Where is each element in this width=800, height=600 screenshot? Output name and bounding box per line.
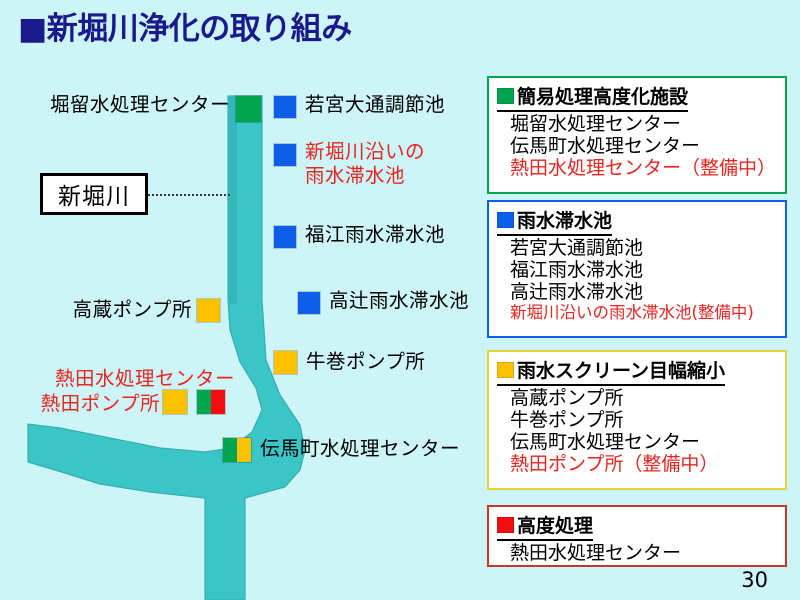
legend-item: 熱田水処理センター xyxy=(497,542,779,564)
slide-canvas: ■新堀川浄化の取り組み 新堀川 堀留水処理センター 若宮大通調節池 新堀川沿いの… xyxy=(0,0,800,600)
legend-box-usui-screen[interactable]: 雨水スクリーン目幅縮小 高蔵ポンプ所 牛巻ポンプ所 伝馬町水処理センター 熱田ポ… xyxy=(487,350,787,490)
marker-denmacho xyxy=(222,437,252,463)
diagram-label-shinborigawa-line2: 雨水滞水池 xyxy=(305,164,425,188)
swatch-green xyxy=(197,390,211,414)
diagram-label-shinborigawa-line1: 新堀川沿いの xyxy=(305,140,425,164)
legend-item: 若宮大通調節池 xyxy=(497,237,779,259)
swatch-blue xyxy=(274,226,296,248)
legend-heading-usui-screen: 雨水スクリーン目幅縮小 xyxy=(497,356,725,386)
marker-shinborigawa xyxy=(273,143,297,167)
legend-item: 新堀川沿いの雨水滞水池(整備中) xyxy=(497,303,779,322)
diagram-label-wakamiya: 若宮大通調節池 xyxy=(305,93,445,117)
river-name-label: 新堀川 xyxy=(58,177,130,211)
legend-box-usui-taisuichi[interactable]: 雨水滞水池 若宮大通調節池 福江雨水滞水池 高辻雨水滞水池 新堀川沿いの雨水滞水… xyxy=(487,200,787,338)
diagram-label-takatsuji: 高辻雨水滞水池 xyxy=(329,289,469,313)
marker-ushimaki xyxy=(273,350,298,375)
swatch-green xyxy=(223,438,237,462)
diagram-label-denmacho: 伝馬町水処理センター xyxy=(260,437,460,461)
diagram-label-shinborigawa: 新堀川沿いの 雨水滞水池 xyxy=(305,140,425,188)
swatch-green-icon xyxy=(497,88,514,104)
page-number: 30 xyxy=(741,568,768,592)
marker-atsuta-pump xyxy=(162,389,188,415)
diagram-label-ushimaki: 牛巻ポンプ所 xyxy=(306,350,425,374)
swatch-blue xyxy=(274,144,296,166)
swatch-blue xyxy=(298,292,320,314)
legend-item: 熱田ポンプ所（整備中） xyxy=(497,453,779,475)
legend-item: 牛巻ポンプ所 xyxy=(497,409,779,431)
legend-heading-usui-taisuichi: 雨水滞水池 xyxy=(497,206,612,236)
marker-wakamiya xyxy=(273,95,297,119)
diagram-label-atsuta-center: 熱田水処理センター xyxy=(20,367,235,391)
legend-item: 高辻雨水滞水池 xyxy=(497,281,779,303)
river-name-box: 新堀川 xyxy=(40,173,148,215)
swatch-yellow xyxy=(237,438,251,462)
legend-item: 堀留水処理センター xyxy=(497,113,779,135)
diagram-label-takakura: 高蔵ポンプ所 xyxy=(40,298,192,322)
legend-heading-text: 雨水スクリーン目幅縮小 xyxy=(517,356,725,383)
diagram-label-fukue: 福江雨水滞水池 xyxy=(305,223,445,247)
legend-heading-kodo-shori: 高度処理 xyxy=(497,511,593,541)
marker-horidome xyxy=(235,95,262,123)
swatch-blue-icon xyxy=(497,212,514,228)
legend-heading-text: 雨水滞水池 xyxy=(517,206,612,233)
swatch-yellow xyxy=(163,390,187,414)
legend-item: 福江雨水滞水池 xyxy=(497,259,779,281)
river-name-connector xyxy=(148,194,230,196)
swatch-yellow-icon xyxy=(497,362,514,378)
legend-box-kodo-shori[interactable]: 高度処理 熱田水処理センター xyxy=(487,505,787,567)
legend-heading-text: 簡易処理高度化施設 xyxy=(517,82,688,109)
legend-item: 高蔵ポンプ所 xyxy=(497,387,779,409)
legend-box-kan-i-shori[interactable]: 簡易処理高度化施設 堀留水処理センター 伝馬町水処理センター 熱田水処理センター… xyxy=(487,76,787,194)
swatch-green xyxy=(236,96,261,122)
swatch-red xyxy=(211,390,225,414)
diagram-label-horidome: 堀留水処理センター xyxy=(30,93,230,117)
swatch-blue xyxy=(274,96,296,118)
swatch-yellow xyxy=(197,299,220,322)
swatch-red-icon xyxy=(497,517,514,533)
marker-atsuta-center xyxy=(196,389,226,415)
legend-heading-text: 高度処理 xyxy=(517,511,593,538)
diagram-label-atsuta-pump: 熱田ポンプ所 xyxy=(10,392,160,416)
marker-takatsuji xyxy=(297,291,321,315)
legend-item: 伝馬町水処理センター xyxy=(497,135,779,157)
swatch-yellow xyxy=(274,351,297,374)
legend-item: 伝馬町水処理センター xyxy=(497,431,779,453)
marker-fukue xyxy=(273,225,297,249)
legend-item: 熱田水処理センター（整備中） xyxy=(497,157,779,179)
legend-heading-kan-i-shori: 簡易処理高度化施設 xyxy=(497,82,688,112)
page-title: ■新堀川浄化の取り組み xyxy=(18,12,352,46)
marker-takakura xyxy=(196,298,221,323)
